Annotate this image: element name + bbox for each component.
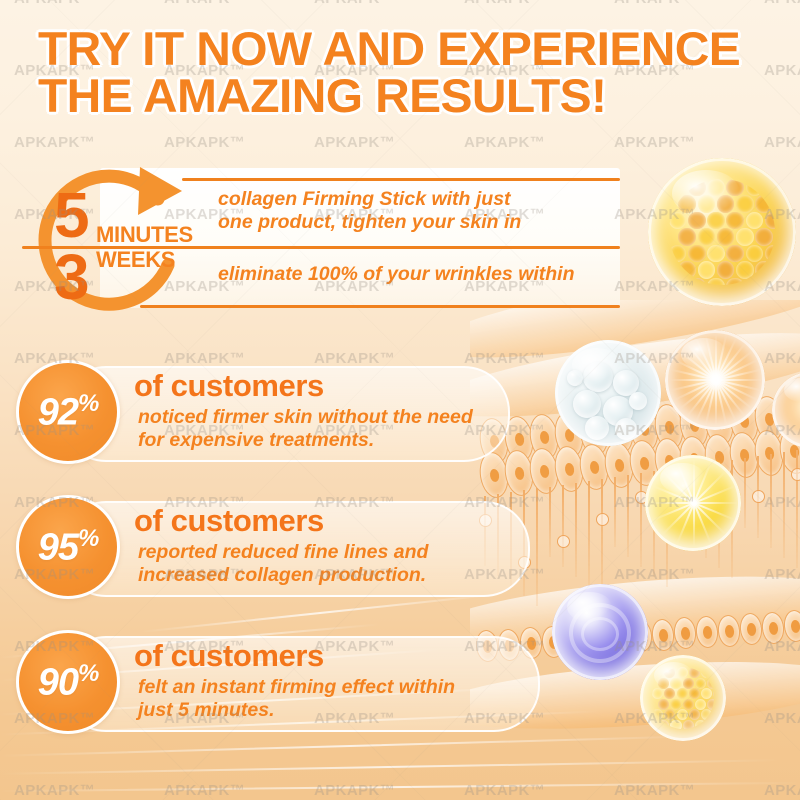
radiant-ray: [693, 462, 712, 504]
stat-badge-95: 95%: [16, 495, 120, 599]
honeycomb-cell: [726, 278, 744, 286]
collagen-fiber: [601, 479, 603, 597]
fiber-node: [752, 490, 765, 503]
timing-number-2: 3: [54, 245, 90, 309]
skin-cell: [577, 408, 612, 458]
honeycomb-cell: [669, 179, 687, 197]
watermark-text: APKAPK™: [314, 0, 395, 7]
radiant-ray: [694, 502, 738, 504]
skin-cell: [677, 434, 712, 484]
watermark-text: APKAPK™: [614, 422, 695, 439]
micro-bubble: [603, 396, 633, 426]
skin-cell: [527, 446, 562, 496]
timing-text-1-line-1: collagen Firming Stick with just: [218, 188, 511, 211]
honeycomb-cell: [701, 667, 712, 678]
collagen-fiber: [692, 466, 694, 548]
skin-cell: [672, 616, 697, 650]
radiant-ray: [715, 334, 717, 380]
watermark-text: APKAPK™: [464, 0, 545, 7]
watermark-text: APKAPK™: [164, 782, 245, 799]
honeycomb-cell: [688, 245, 706, 263]
fiber-node: [674, 534, 687, 547]
radiant-ray: [715, 343, 745, 380]
honeycomb-cell: [707, 699, 714, 710]
stat-badge-90: 90%: [16, 630, 120, 734]
radiant-ray: [715, 379, 745, 416]
collagen-fiber: [588, 481, 590, 587]
collagen-fiber: [796, 450, 798, 568]
watermark-text: APKAPK™: [764, 494, 800, 511]
honeycomb-cell: [765, 212, 775, 230]
watermark-text: APKAPK™: [614, 278, 695, 295]
headline-line-1: TRY IT NOW AND EXPERIENCE: [38, 26, 772, 73]
radiant-ray: [650, 502, 694, 504]
honeycomb-cell: [746, 278, 764, 286]
skin-cell: [552, 410, 587, 460]
watermark-text: APKAPK™: [164, 0, 245, 7]
yellow-serum-sphere: [645, 455, 741, 551]
radiant-ray: [715, 338, 737, 380]
honeycomb-cell: [746, 245, 764, 263]
headline-line-2: THE AMAZING RESULTS!: [38, 73, 772, 120]
collagen-fiber: [653, 471, 655, 577]
stat-row-92: 92% of customers noticed firmer skin wit…: [16, 360, 506, 464]
skin-cell: [606, 621, 631, 655]
timing-divider-bottom: [140, 305, 620, 308]
radiant-ray: [674, 379, 716, 401]
radiant-ray: [671, 369, 716, 381]
collagen-fiber: [731, 460, 733, 578]
honeycomb-cell: [669, 278, 687, 286]
radiant-ray: [693, 502, 726, 535]
stat-row-95: 95% of customers reported reduced fine l…: [16, 495, 526, 599]
radiant-ray: [705, 335, 717, 380]
radiant-ray: [693, 459, 695, 503]
radiant-ray: [674, 359, 716, 381]
watermark-text: APKAPK™: [764, 350, 800, 367]
radiant-ray: [716, 379, 758, 401]
honeycomb-cell: [664, 688, 675, 699]
radiant-ray: [676, 503, 695, 545]
collagen-fiber: [562, 485, 564, 567]
watermark-text: APKAPK™: [614, 566, 695, 583]
micro-bubble: [615, 418, 637, 440]
radiant-ray: [695, 338, 717, 380]
radiant-ray: [716, 359, 758, 381]
radiant-ray: [693, 503, 712, 545]
background-wave-streak: [0, 735, 700, 757]
radiant-ray: [715, 380, 727, 425]
radiant-ray: [715, 380, 717, 426]
watermark-text: APKAPK™: [314, 134, 395, 151]
collagen-fiber: [783, 452, 785, 558]
watermark-text: APKAPK™: [14, 0, 95, 7]
stat-detail-95-line-2: increased collagen production.: [138, 564, 426, 587]
honeycomb-cell: [736, 261, 754, 279]
watermark-text: APKAPK™: [764, 206, 800, 223]
watermark-text: APKAPK™: [764, 134, 800, 151]
radiant-ray: [694, 502, 736, 521]
radiant-ray: [679, 351, 716, 381]
collagen-fiber: [744, 458, 746, 528]
honeycomb-cell: [775, 261, 776, 279]
watermark-text: APKAPK™: [614, 782, 695, 799]
micro-bubble: [583, 362, 613, 392]
collagen-fiber: [627, 475, 629, 557]
radiant-ray: [715, 379, 752, 409]
honeycomb-cell: [707, 245, 725, 263]
watermark-text: APKAPK™: [764, 782, 800, 799]
micro-bubble: [573, 390, 601, 418]
timing-divider-top: [182, 178, 620, 181]
skin-cell: [602, 406, 637, 456]
collagen-fiber: [575, 483, 577, 577]
stat-heading-92: of customers: [134, 368, 324, 404]
radiant-ray: [676, 462, 695, 504]
honeycomb-cell: [695, 699, 706, 710]
honeycomb-cell: [707, 179, 725, 197]
collagen-fiber: [705, 464, 707, 558]
honeycomb-cell: [765, 245, 775, 263]
background-wave-streak: [0, 782, 800, 792]
stat-detail-90-line-1: felt an instant firming effect within: [138, 676, 455, 699]
skin-cell: [727, 430, 762, 480]
honeycomb-cell: [658, 699, 669, 710]
radiant-ray: [662, 502, 695, 535]
radiant-ray: [693, 503, 695, 547]
honeycomb-cell: [726, 179, 744, 197]
skin-cell: [584, 622, 609, 656]
radiant-ray: [715, 335, 727, 380]
watermark-text: APKAPK™: [14, 134, 95, 151]
stat-percent-92: 92%: [38, 390, 99, 435]
honeycomb-cell: [689, 688, 700, 699]
stat-detail-90-line-2: just 5 minutes.: [138, 699, 275, 722]
honeycomb-cell: [701, 688, 712, 699]
bubble-cluster-sphere: [555, 340, 661, 446]
honeycomb-cell: [701, 709, 712, 720]
honeycomb-cell: [689, 667, 700, 678]
honeycomb-cell: [677, 688, 688, 699]
collagen-fiber: [666, 469, 668, 587]
honeycomb-cell: [683, 720, 694, 729]
honeycomb-cell: [698, 228, 716, 246]
honeycomb-cell: [669, 212, 687, 230]
stat-row-90: 90% of customers felt an instant firming…: [16, 630, 536, 734]
radiant-ray: [715, 351, 752, 381]
skin-cell: [727, 396, 762, 446]
watermark-text: APKAPK™: [764, 710, 800, 727]
honeycomb-cell: [736, 195, 754, 213]
skin-cell: [760, 611, 785, 645]
skin-cell: [652, 436, 687, 486]
watermark-text: APKAPK™: [614, 494, 695, 511]
background-wave-streak: [141, 593, 499, 633]
background-wave-streak: [0, 759, 780, 775]
watermark-text: APKAPK™: [764, 0, 800, 7]
skin-cell: [552, 444, 587, 494]
micro-bubble: [613, 370, 639, 396]
timing-unit-1: MINUTES: [96, 222, 193, 248]
fiber-node: [635, 491, 648, 504]
honeycomb-cell: [658, 720, 669, 729]
honeycomb-cell: [683, 678, 694, 689]
skin-cell: [777, 426, 800, 476]
honeycomb-cell: [717, 195, 735, 213]
skin-cell: [540, 625, 565, 659]
honeycomb-cell: [713, 688, 714, 699]
watermark-text: APKAPK™: [614, 710, 695, 727]
fiber-node: [791, 468, 800, 481]
radiant-ray: [653, 485, 695, 504]
timing-text-1-line-2: one product, tighten your skin in: [218, 211, 521, 234]
skin-cell: [738, 612, 763, 646]
skin-cell: [562, 623, 587, 657]
collagen-fiber: [536, 488, 538, 606]
honeycomb-cell: [765, 278, 775, 286]
honeycomb-cell: [717, 261, 735, 279]
honeycomb-cell: [775, 195, 776, 213]
honeycomb-cell: [707, 212, 725, 230]
radiant-ray: [693, 471, 726, 504]
watermark-text: APKAPK™: [764, 278, 800, 295]
skin-cell: [777, 392, 800, 442]
stat-heading-95: of customers: [134, 503, 324, 539]
skin-cell: [752, 394, 787, 444]
micro-bubble: [567, 370, 583, 386]
honeycomb-cell: [658, 678, 669, 689]
radiant-ray: [695, 380, 717, 422]
skin-cell: [702, 432, 737, 482]
honeycomb-cell: [707, 678, 714, 689]
fiber-node: [596, 513, 609, 526]
honeycomb-cell: [652, 667, 663, 678]
watermark-text: APKAPK™: [614, 206, 695, 223]
honeycomb-cell: [713, 709, 714, 720]
honeycomb-cell: [707, 278, 725, 286]
radiant-ray: [705, 380, 717, 425]
timing-claim-block: 5 MINUTES collagen Firming Stick with ju…: [22, 150, 622, 330]
honeycomb-cell: [670, 720, 681, 729]
watermark-text: APKAPK™: [614, 638, 695, 655]
watermark-text: APKAPK™: [764, 422, 800, 439]
stat-detail-92-line-1: noticed firmer skin without the need: [138, 406, 473, 429]
radiant-ray: [716, 369, 761, 381]
honeycomb-cell: [695, 678, 706, 689]
stat-percent-95: 95%: [38, 525, 99, 570]
stat-percent-90: 90%: [38, 660, 99, 705]
watermark-text: APKAPK™: [614, 350, 695, 367]
skin-cell: [502, 448, 537, 498]
honeycomb-cell: [688, 278, 706, 286]
honeycomb-cell: [713, 667, 714, 678]
collagen-fiber: [614, 477, 616, 547]
fiber-node: [713, 512, 726, 525]
radiant-orange-sphere-edge: [772, 372, 800, 448]
radiant-orange-sphere: [665, 330, 765, 430]
watermark-text: APKAPK™: [614, 0, 695, 7]
stat-heading-90: of customers: [134, 638, 324, 674]
honeycomb-cell: [698, 261, 716, 279]
watermark-text: APKAPK™: [614, 134, 695, 151]
honeycomb-cell: [755, 261, 773, 279]
radiant-ray: [687, 379, 717, 416]
honeycomb-cell: [689, 709, 700, 720]
stat-badge-92: 92%: [16, 360, 120, 464]
micro-bubble: [629, 392, 647, 410]
skin-cell: [650, 618, 675, 652]
honeycomb-cell: [707, 720, 714, 729]
watermark-text: APKAPK™: [764, 566, 800, 583]
collagen-fiber: [718, 462, 720, 568]
fiber-node: [557, 535, 570, 548]
honeycomb-cell: [652, 709, 663, 720]
collagen-fiber: [770, 454, 772, 548]
skin-cell: [628, 619, 653, 653]
skin-cell: [627, 404, 662, 454]
radiant-ray: [694, 485, 736, 504]
watermark-text: APKAPK™: [464, 782, 545, 799]
honeycomb-cell: [652, 688, 663, 699]
skin-cell: [702, 398, 737, 448]
honeycomb-cell: [678, 228, 696, 246]
honeycomb-cell: [678, 195, 696, 213]
page-title: TRY IT NOW AND EXPERIENCE THE AMAZING RE…: [38, 26, 772, 119]
honeycomb-cell: [717, 228, 735, 246]
radiant-ray: [671, 379, 716, 391]
skin-cell: [782, 609, 800, 643]
collagen-fiber: [549, 487, 551, 557]
skin-wave-band: [470, 316, 800, 434]
honeycomb-serum-sphere-small: [640, 655, 726, 741]
honeycomb-cell: [669, 245, 687, 263]
radiant-ray: [687, 343, 717, 380]
skin-cell: [677, 400, 712, 450]
skin-cell: [577, 442, 612, 492]
honeycomb-cell: [775, 228, 776, 246]
radiant-ray: [716, 379, 761, 391]
promo-poster: TRY IT NOW AND EXPERIENCE THE AMAZING RE…: [0, 0, 800, 800]
watermark-text: APKAPK™: [464, 134, 545, 151]
skin-cell: [694, 615, 719, 649]
radiant-ray: [715, 380, 737, 422]
honeycomb-cell: [755, 195, 773, 213]
honeycomb-serum-sphere-large: [648, 158, 796, 306]
radiant-ray: [662, 471, 695, 504]
radiant-ray: [679, 379, 716, 409]
honeycomb-cell: [746, 179, 764, 197]
skin-cell: [627, 438, 662, 488]
skin-cell: [602, 440, 637, 490]
honeycomb-cell: [664, 667, 675, 678]
honeycomb-cell: [688, 212, 706, 230]
collagen-fiber: [679, 468, 681, 538]
watermark-text: APKAPK™: [314, 782, 395, 799]
skin-cell: [716, 614, 741, 648]
stat-detail-92-line-2: for expensive treatments.: [138, 429, 374, 452]
honeycomb-cell: [677, 709, 688, 720]
honeycomb-cell: [670, 678, 681, 689]
watermark-text: APKAPK™: [764, 638, 800, 655]
honeycomb-cell: [670, 699, 681, 710]
timing-unit-2: WEEKS: [96, 247, 175, 273]
honeycomb-cell: [746, 212, 764, 230]
honeycomb-cell: [698, 195, 716, 213]
radiant-ray: [670, 379, 716, 381]
radiant-ray: [716, 379, 762, 381]
micro-bubble: [585, 416, 609, 440]
honeycomb-cell: [726, 245, 744, 263]
watermark-text: APKAPK™: [14, 782, 95, 799]
skin-cell: [652, 402, 687, 452]
honeycomb-cell: [688, 179, 706, 197]
honeycomb-cell: [678, 261, 696, 279]
skin-cell: [527, 412, 562, 462]
honeycomb-cell: [726, 212, 744, 230]
honeycomb-cell: [765, 179, 775, 197]
watermark-text: APKAPK™: [164, 134, 245, 151]
honeycomb-cell: [683, 699, 694, 710]
collagen-fiber: [757, 456, 759, 538]
honeycomb-cell: [664, 709, 675, 720]
skin-cell: [752, 428, 787, 478]
radiant-ray: [653, 502, 695, 521]
stat-detail-95-line-1: reported reduced fine lines and: [138, 541, 428, 564]
collagen-fiber: [640, 473, 642, 567]
honeycomb-cell: [677, 667, 688, 678]
honeycomb-cell: [695, 720, 706, 729]
honeycomb-cell: [736, 228, 754, 246]
timing-number-1: 5: [54, 183, 90, 247]
honeycomb-cell: [755, 228, 773, 246]
timing-text-2-line-1: eliminate 100% of your wrinkles within: [218, 263, 575, 286]
blue-swirl-sphere: [552, 584, 648, 680]
